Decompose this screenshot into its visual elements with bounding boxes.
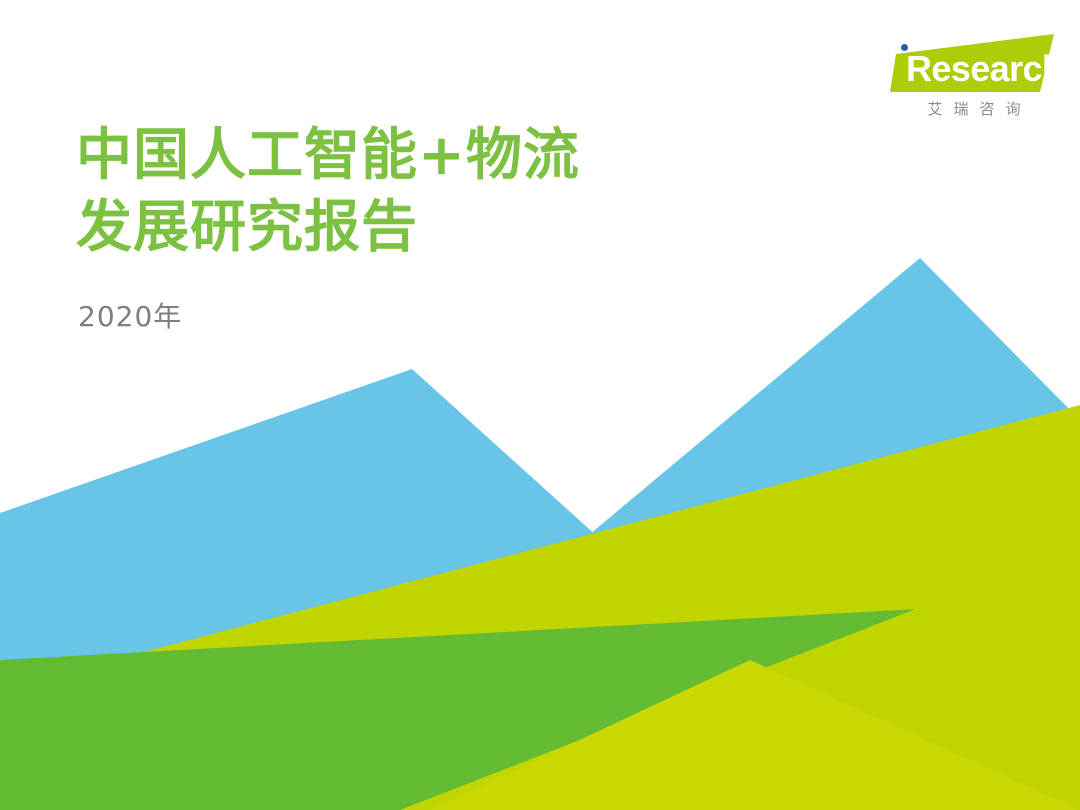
page-subtitle-year: 2020年	[78, 295, 182, 335]
report-cover: Research 艾瑞咨询 中国人工智能+物流 发展研究报告 2020年	[0, 0, 1080, 810]
logo-subtitle: 艾瑞咨询	[894, 98, 1054, 119]
page-title: 中国人工智能+物流 发展研究报告	[76, 120, 580, 264]
logo-wordmark: Research	[906, 44, 1054, 94]
iresearch-logo: Research 艾瑞咨询	[888, 34, 1054, 138]
page-title-line-1: 中国人工智能+物流	[76, 120, 580, 192]
page-title-line-2: 发展研究报告	[76, 192, 580, 264]
